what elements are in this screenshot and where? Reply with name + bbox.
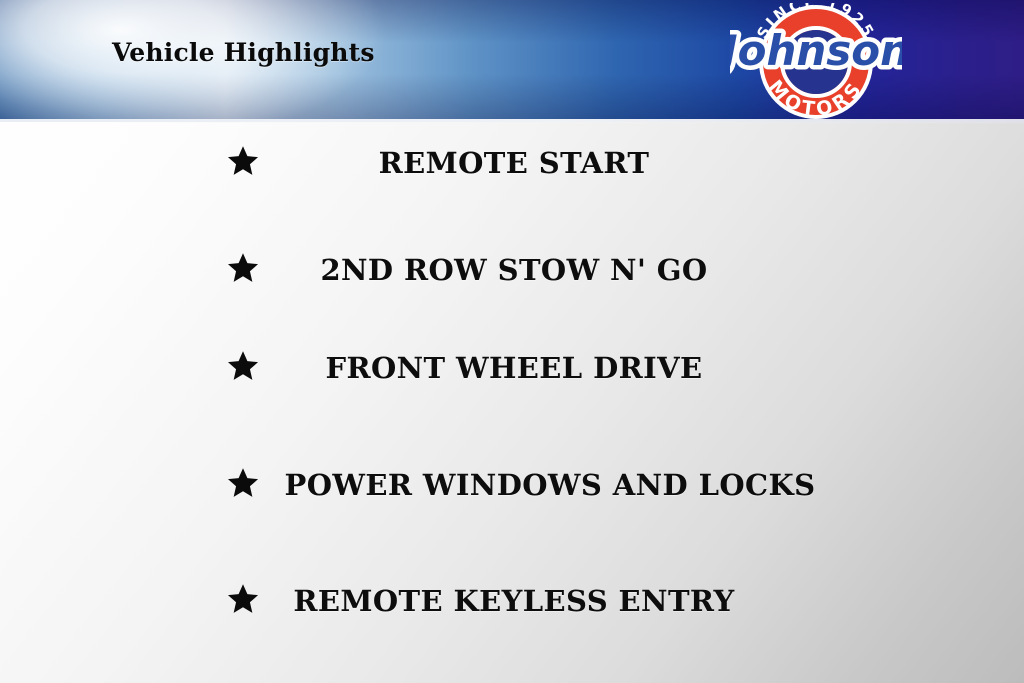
list-item: POWER WINDOWS AND LOCKS: [0, 463, 1024, 507]
highlights-list: REMOTE START 2ND ROW STOW N' GO FRONT WH…: [0, 125, 1024, 683]
list-item: REMOTE START: [0, 141, 1024, 185]
list-item: 2ND ROW STOW N' GO: [0, 248, 1024, 292]
svg-text:Johnson: Johnson: [730, 26, 902, 75]
page-title: Vehicle Highlights: [112, 38, 375, 67]
list-item-label: POWER WINDOWS AND LOCKS: [38, 463, 1024, 507]
list-item-label: 2ND ROW STOW N' GO: [2, 248, 1024, 292]
list-item-label: REMOTE KEYLESS ENTRY: [2, 579, 1024, 623]
banner-divider: [0, 122, 1024, 123]
header-banner: Vehicle Highlights SINCE 1925: [0, 0, 1024, 119]
johnson-motors-logo: SINCE 1925 MOTORS Johnson Johnson: [730, 3, 902, 119]
list-item-label: REMOTE START: [2, 141, 1024, 185]
list-item-label: FRONT WHEEL DRIVE: [2, 346, 1024, 390]
list-item: FRONT WHEEL DRIVE: [0, 346, 1024, 390]
list-item: REMOTE KEYLESS ENTRY: [0, 579, 1024, 623]
vehicle-highlights-slide: Vehicle Highlights SINCE 1925: [0, 0, 1024, 683]
